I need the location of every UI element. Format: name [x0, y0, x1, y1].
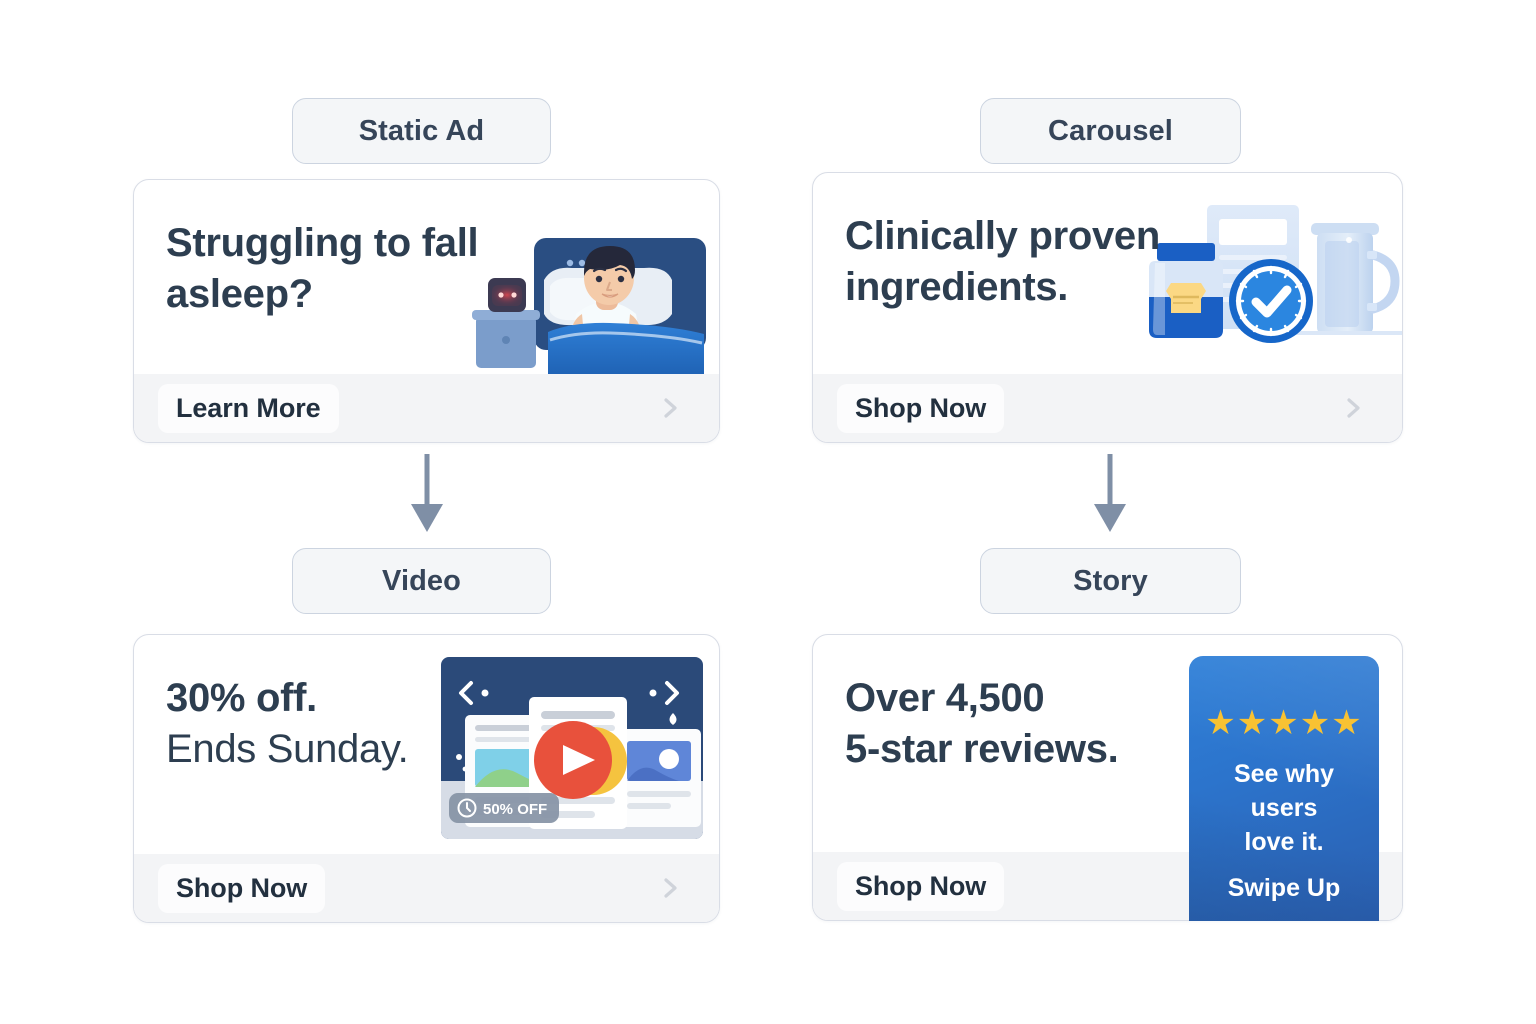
ad-formats-diagram: Static Ad Struggling to fall asleep?: [0, 0, 1536, 1024]
cta-shop-now-button[interactable]: Shop Now: [837, 862, 1004, 911]
ad-headline-line1: Clinically proven: [845, 211, 1160, 262]
type-label-carousel[interactable]: Carousel: [980, 98, 1241, 164]
ad-card-body: Clinically proven ingredients.: [813, 173, 1402, 374]
chevron-right-icon[interactable]: [1338, 393, 1368, 423]
cta-shop-now-button[interactable]: Shop Now: [158, 864, 325, 913]
ad-card-video[interactable]: 30% off. Ends Sunday.: [133, 634, 720, 923]
cta-shop-now-button[interactable]: Shop Now: [837, 384, 1004, 433]
ad-headline-line2: 5-star reviews.: [845, 724, 1118, 775]
star-rating-icon: ★★★★★: [1189, 706, 1379, 740]
type-label-video[interactable]: Video: [292, 548, 551, 614]
supplement-bottle-verified-badge-illustration: [1143, 199, 1402, 369]
ad-headline-line1: Struggling to fall: [166, 218, 478, 269]
arrow-static-ad-to-video: [407, 452, 447, 534]
ad-headline-line1: 30% off.: [166, 673, 409, 724]
ad-headline-line2: asleep?: [166, 269, 478, 320]
type-label-story[interactable]: Story: [980, 548, 1241, 614]
type-label-static-ad[interactable]: Static Ad: [292, 98, 551, 164]
ad-card-body: 30% off. Ends Sunday.: [134, 635, 719, 854]
ad-headline: Struggling to fall asleep?: [166, 218, 478, 320]
video-player-thumbnail-illustration: 50% OFF: [441, 657, 703, 839]
story-caption-line2: love it.: [1244, 828, 1323, 856]
arrow-carousel-to-story: [1090, 452, 1130, 534]
person-awake-in-bed-illustration: [470, 228, 710, 374]
ad-headline-line2: ingredients.: [845, 262, 1160, 313]
chevron-right-icon[interactable]: [655, 873, 685, 903]
ad-headline: Over 4,500 5-star reviews.: [845, 673, 1118, 775]
video-discount-badge-label: 50% OFF: [483, 801, 547, 818]
chevron-right-icon[interactable]: [655, 393, 685, 423]
swipe-up-label[interactable]: Swipe Up: [1189, 874, 1379, 903]
ad-card-body: Struggling to fall asleep?: [134, 180, 719, 374]
type-label-text: Static Ad: [359, 115, 485, 148]
ad-headline: Clinically proven ingredients.: [845, 211, 1160, 313]
ad-headline-line2: Ends Sunday.: [166, 724, 409, 775]
story-panel-illustration: ★★★★★ See why users love it. Swipe Up: [1189, 656, 1379, 921]
ad-card-footer: Learn More: [134, 374, 719, 442]
story-caption: See why users love it.: [1189, 758, 1379, 859]
type-label-text: Video: [382, 565, 461, 598]
cta-learn-more-button[interactable]: Learn More: [158, 384, 339, 433]
ad-card-footer: Shop Now: [813, 374, 1402, 442]
ad-card-static-ad[interactable]: Struggling to fall asleep?: [133, 179, 720, 443]
ad-card-carousel[interactable]: Clinically proven ingredients.: [812, 172, 1403, 443]
ad-card-footer: Shop Now: [134, 854, 719, 922]
ad-headline: 30% off. Ends Sunday.: [166, 673, 409, 775]
type-label-text: Story: [1073, 565, 1148, 598]
type-label-text: Carousel: [1048, 115, 1173, 148]
ad-headline-line1: Over 4,500: [845, 673, 1118, 724]
story-caption-line1: See why users: [1234, 760, 1334, 822]
